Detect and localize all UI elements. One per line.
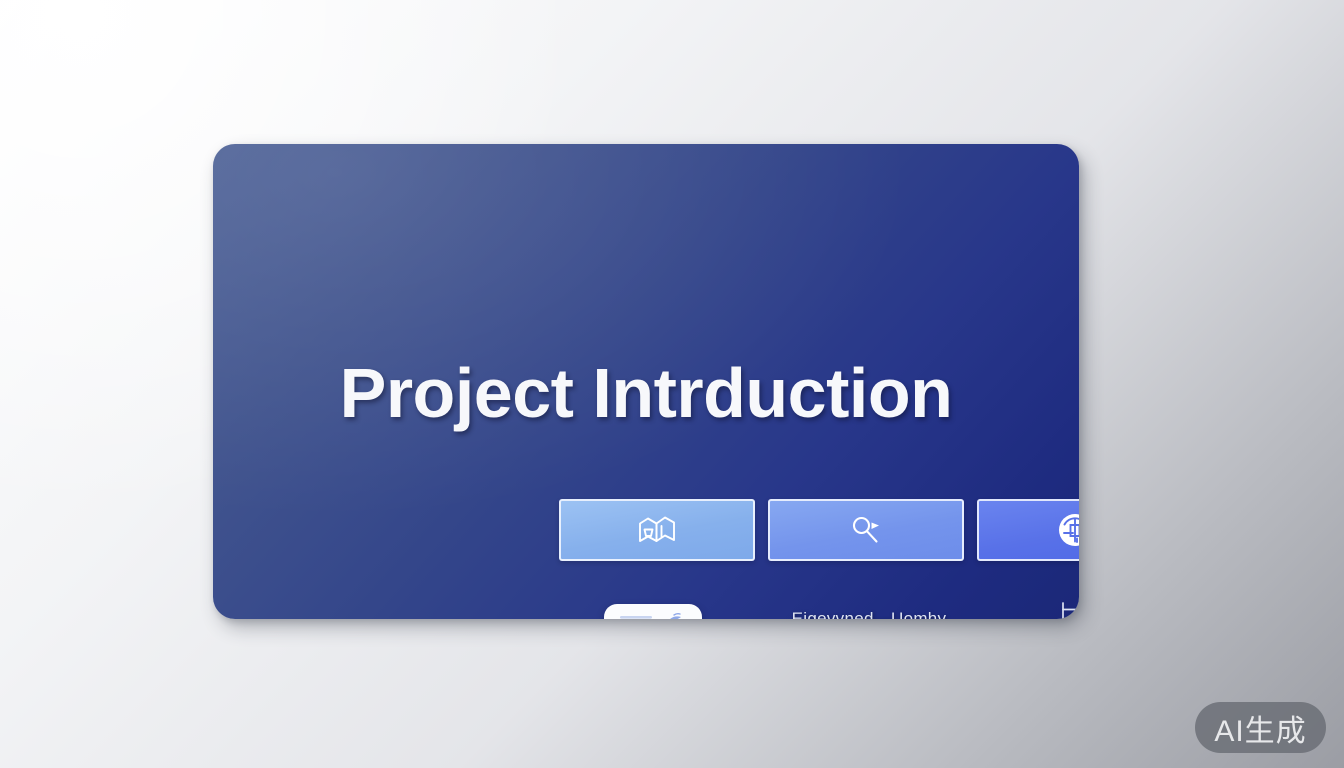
center-caption: Eigevvned—Uomhy: [744, 609, 994, 619]
preview-card[interactable]: [604, 604, 702, 619]
page-title: Project Intrduction: [213, 358, 1079, 428]
magnifying-glass-icon: [847, 514, 885, 546]
book-button[interactable]: [559, 499, 755, 561]
globe-circle-icon: [1057, 512, 1079, 548]
ai-generated-watermark: AI生成: [1195, 702, 1326, 753]
right-feature-group[interactable]: Revraelds lrw: [1014, 594, 1079, 619]
globe-button[interactable]: [977, 499, 1079, 561]
slide-card: Project Intrduction: [213, 144, 1079, 619]
cart-sketch-icon: [1014, 594, 1079, 619]
open-book-icon: [637, 514, 677, 546]
search-button[interactable]: [768, 499, 964, 561]
content-row: Eigevvned—Uomhy Revraelds lrw: [559, 594, 1079, 619]
nav-button-row: [559, 499, 1079, 561]
